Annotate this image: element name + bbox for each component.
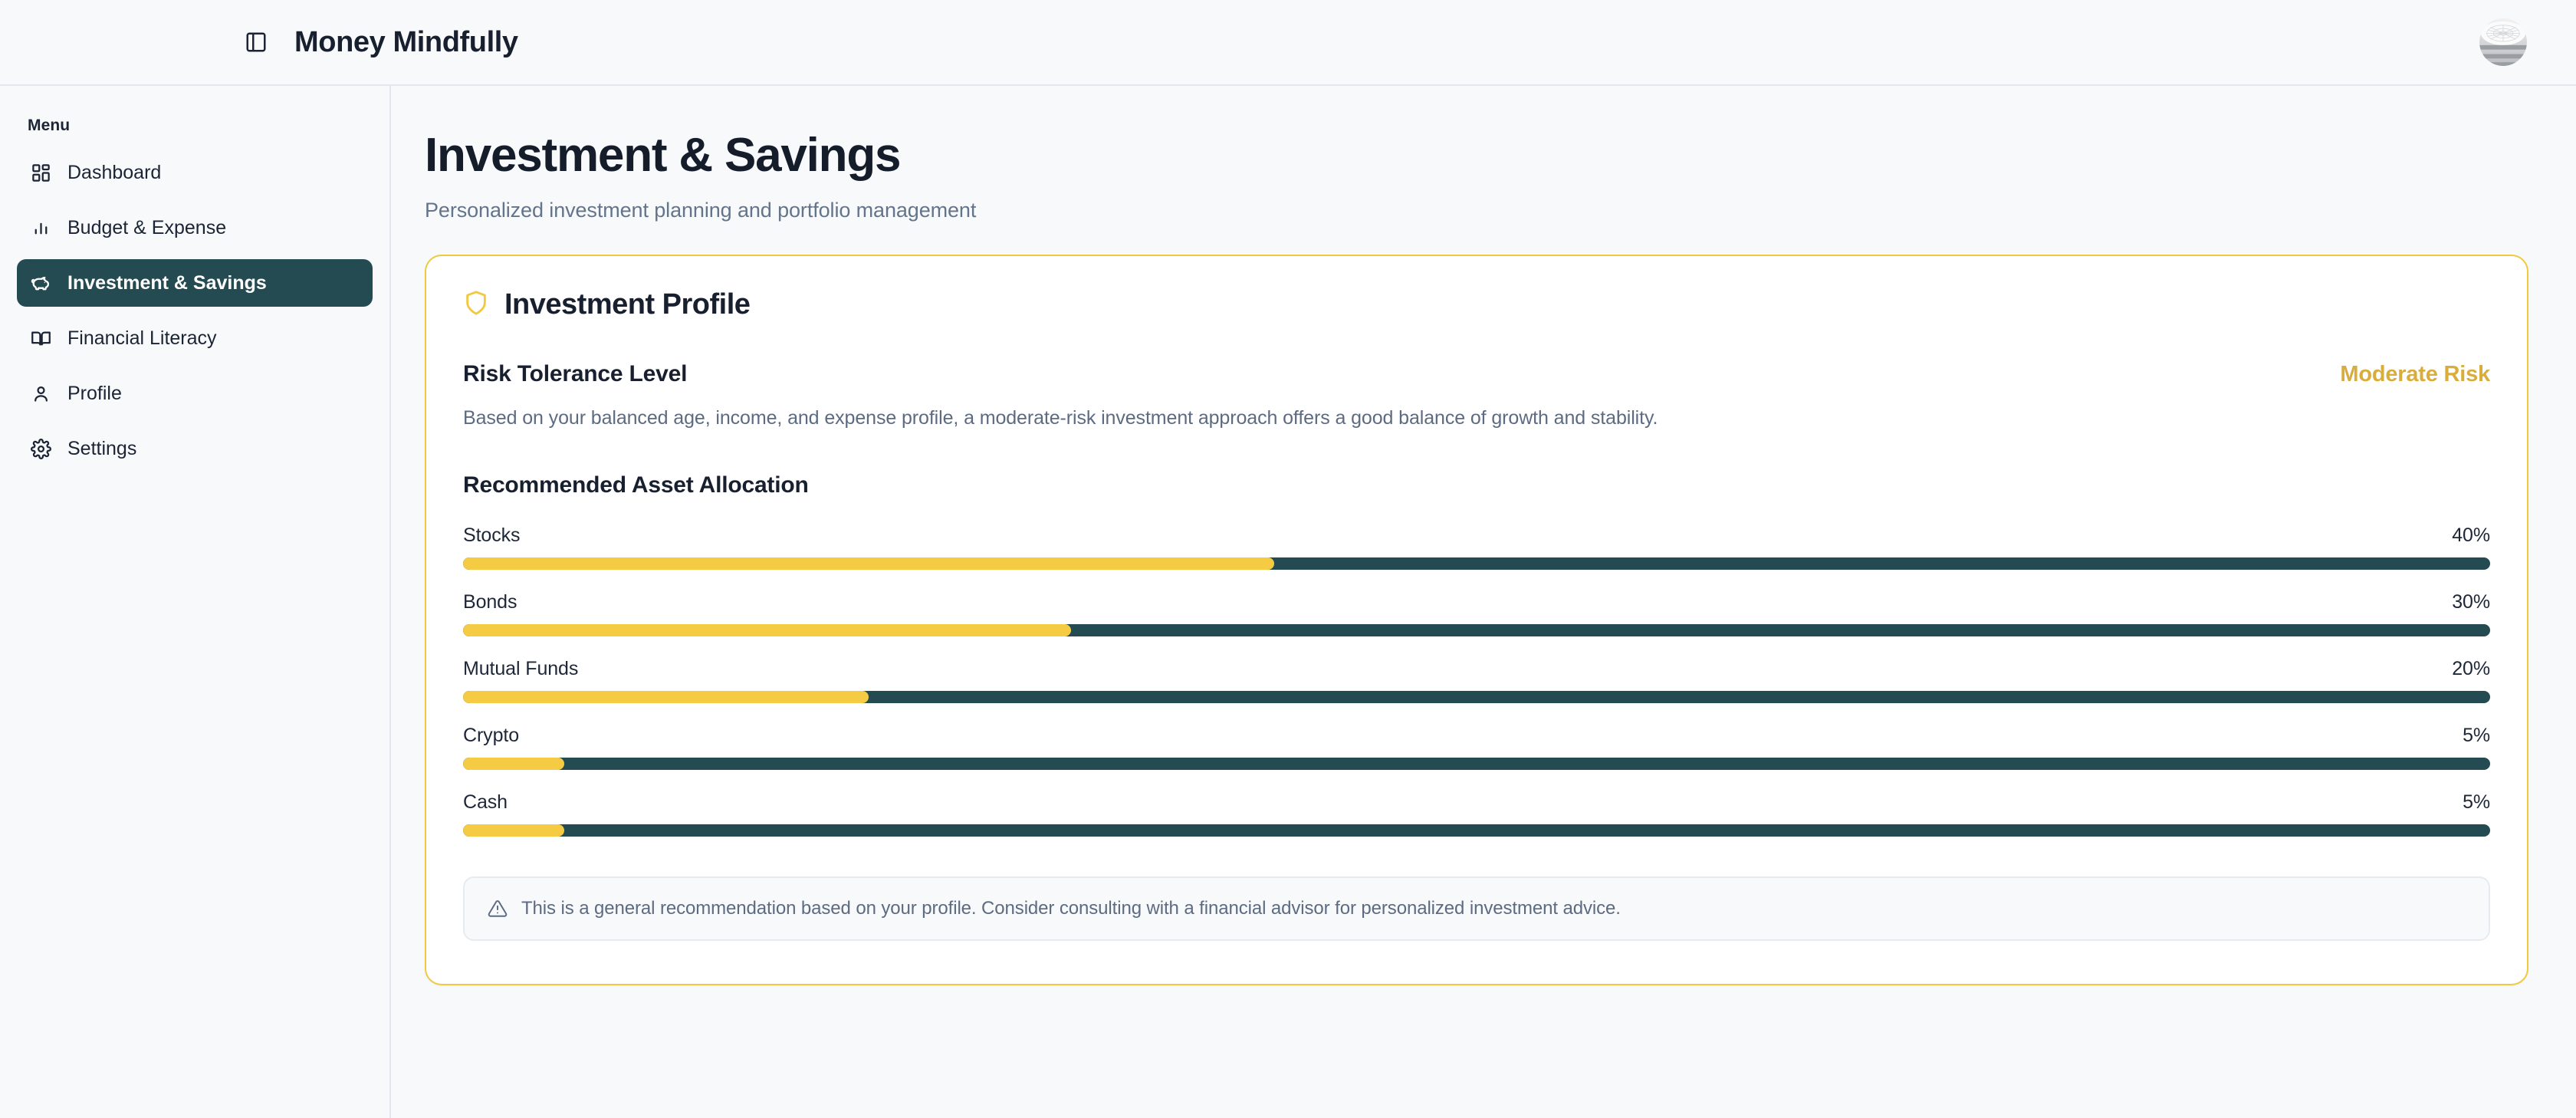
allocation-label: Bonds xyxy=(463,591,517,613)
risk-tolerance-label: Risk Tolerance Level xyxy=(463,361,687,387)
sidebar-item-label: Financial Literacy xyxy=(67,329,217,348)
panel-left-icon[interactable] xyxy=(238,24,274,61)
disclaimer-text: This is a general recommendation based o… xyxy=(521,898,1621,919)
user-icon xyxy=(29,382,52,405)
sidebar-item-label: Settings xyxy=(67,439,136,459)
allocation-percent: 5% xyxy=(2463,725,2490,747)
sidebar-item-budget-expense[interactable]: Budget & Expense xyxy=(17,204,373,252)
sidebar-item-label: Budget & Expense xyxy=(67,219,226,238)
allocation-bar-track xyxy=(463,758,2490,770)
sidebar-item-profile[interactable]: Profile xyxy=(17,370,373,417)
allocation-percent: 40% xyxy=(2452,524,2490,547)
sidebar-item-investment-savings[interactable]: Investment & Savings xyxy=(17,259,373,307)
allocation-bar-fill xyxy=(463,824,564,837)
disclaimer-notice: This is a general recommendation based o… xyxy=(463,876,2490,941)
asset-allocation-list: Stocks 40% Bonds 30% xyxy=(463,524,2490,837)
allocation-row-bonds: Bonds 30% xyxy=(463,591,2490,636)
risk-level-badge: Moderate Risk xyxy=(2340,362,2490,387)
allocation-bar-track xyxy=(463,624,2490,636)
allocation-bar-fill xyxy=(463,624,1071,636)
app-shell: Menu Dashboard Budget & Expens xyxy=(0,86,2576,1118)
card-title: Investment Profile xyxy=(504,288,750,321)
shield-icon xyxy=(463,290,489,320)
allocation-bar-track xyxy=(463,557,2490,570)
app-title: Money Mindfully xyxy=(294,26,518,59)
risk-tolerance-row: Risk Tolerance Level Moderate Risk xyxy=(463,361,2490,387)
investment-profile-card: Investment Profile Risk Tolerance Level … xyxy=(425,255,2528,985)
warning-triangle-icon xyxy=(488,899,508,919)
allocation-title: Recommended Asset Allocation xyxy=(463,472,2490,498)
bar-chart-icon xyxy=(29,216,52,239)
allocation-percent: 30% xyxy=(2452,591,2490,613)
allocation-row-cash: Cash 5% xyxy=(463,791,2490,837)
sidebar-menu-label: Menu xyxy=(17,107,373,149)
allocation-percent: 20% xyxy=(2452,658,2490,680)
gear-icon xyxy=(29,437,52,460)
sidebar: Menu Dashboard Budget & Expens xyxy=(0,86,391,1118)
sidebar-item-financial-literacy[interactable]: Financial Literacy xyxy=(17,314,373,362)
page-title: Investment & Savings xyxy=(425,130,2528,180)
allocation-row-crypto: Crypto 5% xyxy=(463,725,2490,770)
allocation-label: Stocks xyxy=(463,524,520,547)
layout-grid-icon xyxy=(29,161,52,184)
sidebar-item-settings[interactable]: Settings xyxy=(17,425,373,472)
sidebar-item-dashboard[interactable]: Dashboard xyxy=(17,149,373,196)
app-header: Money Mindfully xyxy=(0,0,2576,86)
sidebar-item-label: Dashboard xyxy=(67,163,161,182)
avatar[interactable] xyxy=(2479,18,2527,66)
piggy-bank-icon xyxy=(29,271,52,294)
sidebar-item-label: Profile xyxy=(67,384,122,403)
allocation-bar-fill xyxy=(463,758,564,770)
risk-description: Based on your balanced age, income, and … xyxy=(463,407,2490,429)
page-subtitle: Personalized investment planning and por… xyxy=(425,199,2528,222)
allocation-label: Mutual Funds xyxy=(463,658,578,680)
allocation-label: Crypto xyxy=(463,725,519,747)
allocation-bar-track xyxy=(463,691,2490,703)
allocation-percent: 5% xyxy=(2463,791,2490,814)
allocation-bar-track xyxy=(463,824,2490,837)
allocation-row-mutual-funds: Mutual Funds 20% xyxy=(463,658,2490,703)
main-content: Investment & Savings Personalized invest… xyxy=(391,86,2576,1118)
allocation-label: Cash xyxy=(463,791,508,814)
card-header: Investment Profile xyxy=(463,288,2490,321)
allocation-row-stocks: Stocks 40% xyxy=(463,524,2490,570)
allocation-bar-fill xyxy=(463,691,869,703)
sidebar-item-label: Investment & Savings xyxy=(67,274,267,293)
allocation-bar-fill xyxy=(463,557,1274,570)
book-open-icon xyxy=(29,327,52,350)
